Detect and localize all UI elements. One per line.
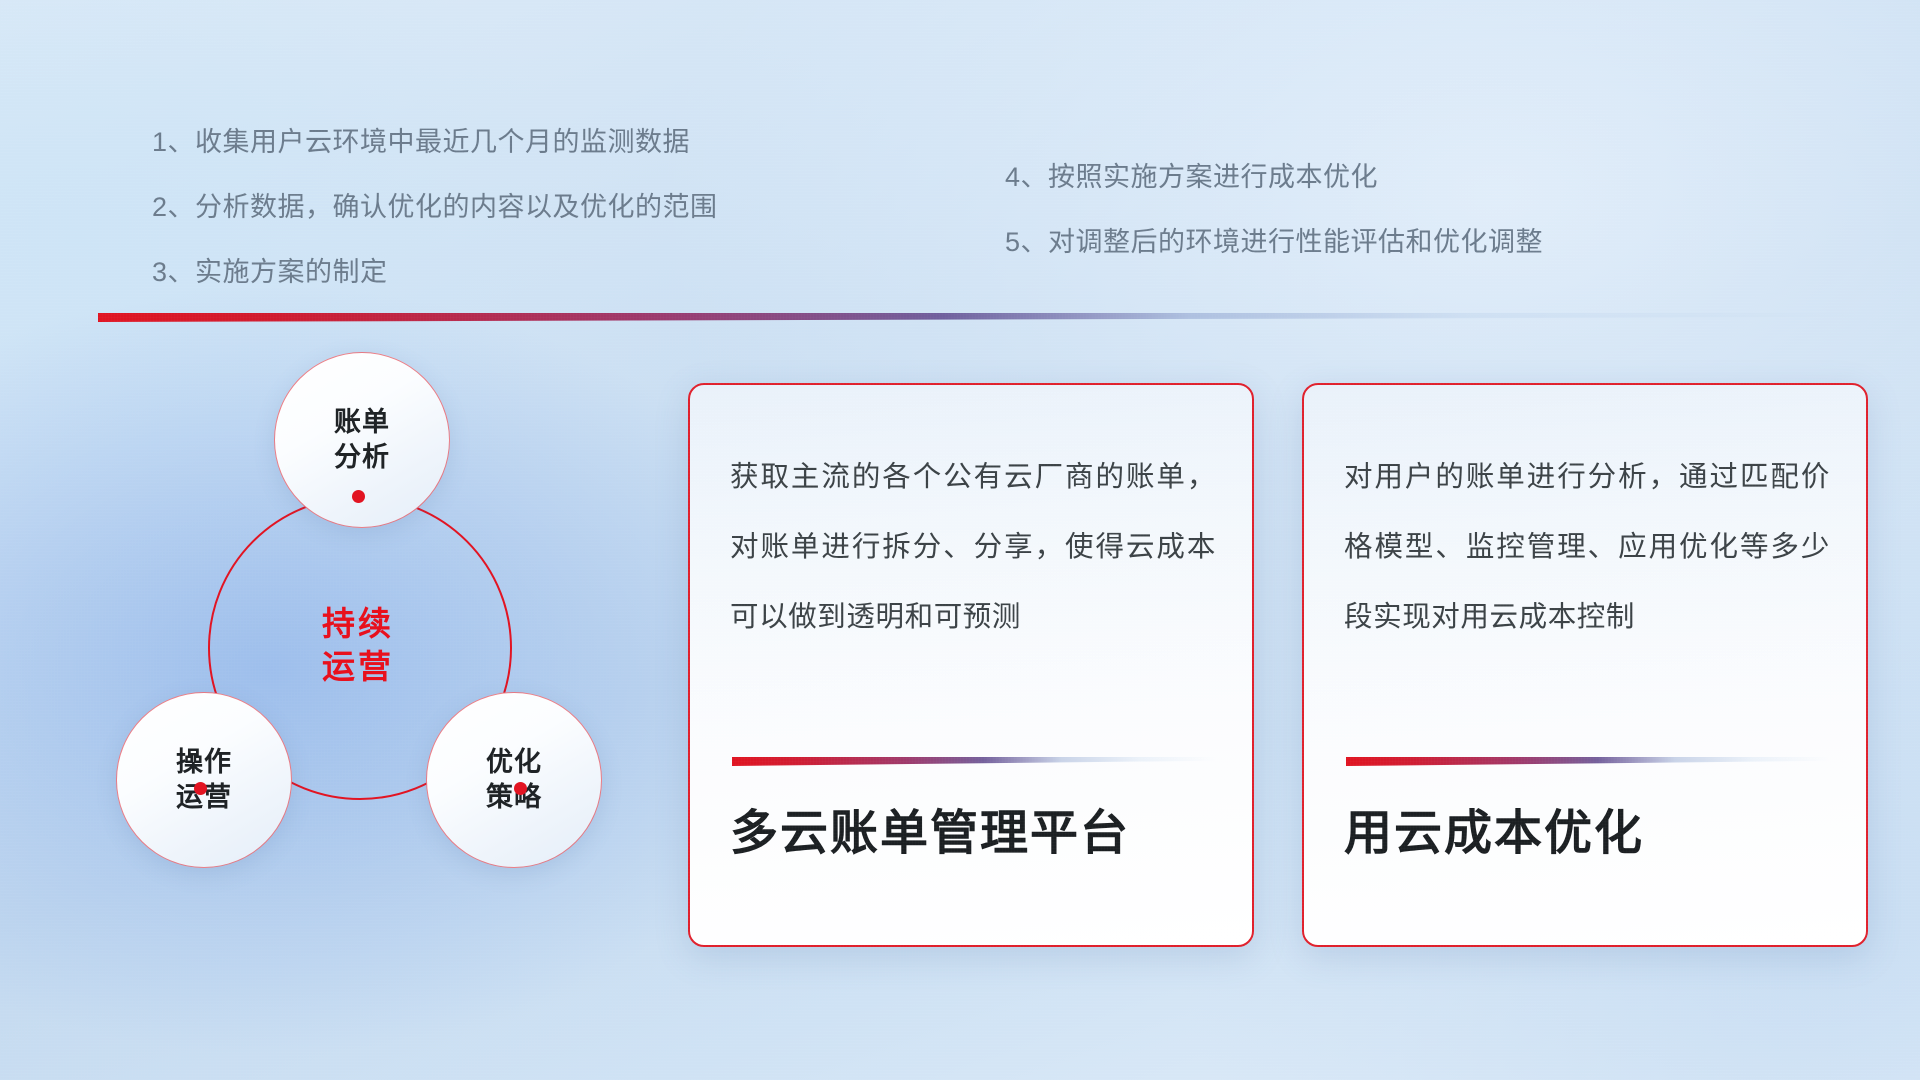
connector-dot-left-icon <box>194 782 207 795</box>
center-ring-label: 持续 运营 <box>208 496 508 796</box>
step-item-5: 5、对调整后的环境进行性能评估和优化调整 <box>1005 220 1543 259</box>
center-label-line-1: 持续 <box>322 603 394 646</box>
slide-canvas: 1、收集用户云环境中最近几个月的监测数据 2、分析数据，确认优化的内容以及优化的… <box>0 0 1920 1080</box>
step-item-1: 1、收集用户云环境中最近几个月的监测数据 <box>152 120 718 159</box>
node-top-line-1: 账单 <box>334 405 390 440</box>
step-item-2: 2、分析数据，确认优化的内容以及优化的范围 <box>152 185 718 224</box>
step-item-4: 4、按照实施方案进行成本优化 <box>1005 155 1543 194</box>
card-1-title: 多云账单管理平台 <box>730 805 1216 863</box>
card-2-body: 对用户的账单进行分析，通过匹配价格模型、监控管理、应用优化等多少段实现对用云成本… <box>1344 443 1830 652</box>
center-label-line-2: 运营 <box>322 646 394 689</box>
steps-left-column: 1、收集用户云环境中最近几个月的监测数据 2、分析数据，确认优化的内容以及优化的… <box>152 120 718 315</box>
step-item-3: 3、实施方案的制定 <box>152 250 718 289</box>
card-multi-cloud-billing[interactable]: 获取主流的各个公有云厂商的账单，对账单进行拆分、分享，使得云成本可以做到透明和可… <box>688 383 1254 947</box>
card-1-divider <box>732 757 1216 766</box>
continuous-operation-diagram: 持续 运营 账单 分析 操作 运营 优化 策略 <box>96 352 616 912</box>
card-1-body: 获取主流的各个公有云厂商的账单，对账单进行拆分、分享，使得云成本可以做到透明和可… <box>730 443 1216 652</box>
card-2-divider <box>1346 757 1830 766</box>
node-top-line-2: 分析 <box>334 440 390 475</box>
connector-dot-right-icon <box>514 782 527 795</box>
card-cloud-cost-optimization[interactable]: 对用户的账单进行分析，通过匹配价格模型、监控管理、应用优化等多少段实现对用云成本… <box>1302 383 1868 947</box>
steps-right-column: 4、按照实施方案进行成本优化 5、对调整后的环境进行性能评估和优化调整 <box>1005 155 1543 285</box>
connector-dot-top-icon <box>352 490 365 503</box>
card-2-title: 用云成本优化 <box>1344 805 1830 863</box>
section-divider <box>98 313 1858 322</box>
